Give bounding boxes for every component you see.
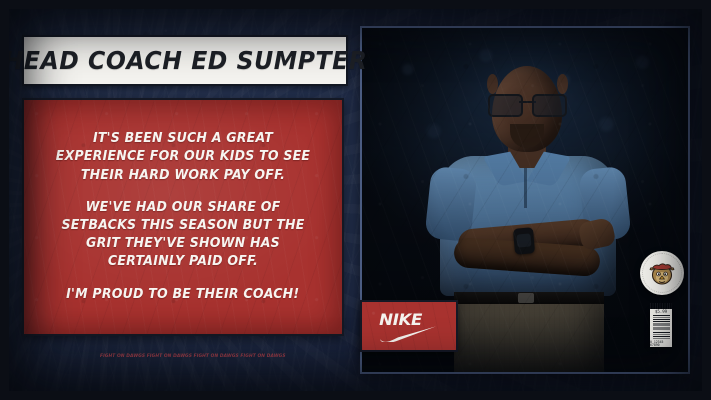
mascot-badge <box>640 251 684 295</box>
quote-card: IT'S BEEN SUCH A GREAT EXPERIENCE FOR OU… <box>22 98 344 336</box>
quote-paragraph-3: I'M PROUD TO BE THEIR COACH! <box>66 286 299 304</box>
barcode-tag: $5.99 0 12345 67890 <box>650 309 672 347</box>
page-title: HEAD COACH ED SUMPTER <box>3 46 367 75</box>
title-plate: HEAD COACH ED SUMPTER <box>22 35 348 86</box>
swoosh-icon <box>378 326 438 342</box>
micro-text: FIGHT ON DAWGS FIGHT ON DAWGS FIGHT ON D… <box>100 354 286 359</box>
barcode-number: 0 12345 67890 <box>650 341 672 347</box>
micro-text-strip: FIGHT ON DAWGS FIGHT ON DAWGS FIGHT ON D… <box>100 352 296 361</box>
poster-canvas: HEAD COACH ED SUMPTER IT'S BEEN SUCH A G… <box>0 0 711 400</box>
nike-logo-box: NIKE <box>360 300 458 352</box>
barcode-icon <box>653 315 670 340</box>
barcode-price: $5.99 <box>655 310 667 314</box>
quote-paragraph-2: WE'VE HAD OUR SHARE OF SETBACKS THIS SEA… <box>47 199 319 272</box>
mascot-head-icon <box>647 258 677 288</box>
quote-paragraph-1: IT'S BEEN SUCH A GREAT EXPERIENCE FOR OU… <box>47 130 319 185</box>
